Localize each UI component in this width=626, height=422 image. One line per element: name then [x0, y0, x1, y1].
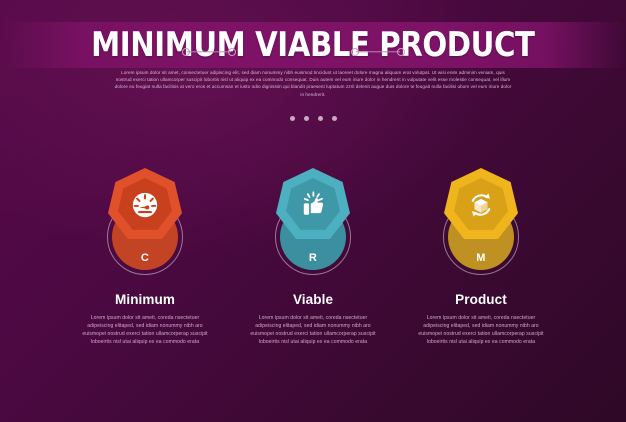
column-minimum[interactable]: C	[61, 168, 229, 346]
connector-ring-icon	[228, 48, 236, 56]
page-title: MINIMUM VIABLE PRODUCT	[91, 28, 534, 62]
divider-dots	[0, 116, 626, 121]
connector-ring-icon	[397, 48, 405, 56]
body-product: Lorem ipsum dolor sit ameti, coreda nsec…	[415, 314, 547, 346]
speedometer-icon	[130, 190, 160, 220]
heptagon-inner	[286, 178, 340, 232]
letter-label-m: M	[461, 252, 501, 264]
column-viable[interactable]: R	[229, 168, 397, 346]
letter-label-c: C	[125, 252, 165, 264]
badge-product[interactable]: M	[429, 168, 533, 276]
heptagon-inner	[118, 178, 172, 232]
divider-dot	[318, 116, 323, 121]
columns-row: C	[0, 168, 626, 346]
badge-minimum[interactable]: C	[93, 168, 197, 276]
thumbs-up-icon	[298, 190, 328, 220]
box-refresh-icon	[466, 190, 496, 220]
connector-1	[182, 46, 236, 58]
body-minimum: Lorem ipsum dolor sit ameti, coreda nsec…	[79, 314, 211, 346]
connector-2	[351, 46, 405, 58]
infographic-canvas: MINIMUM VIABLE PRODUCT Lorem ipsum dolor…	[0, 0, 626, 422]
divider-dot	[304, 116, 309, 121]
letter-label-r: R	[293, 252, 333, 264]
connector-line	[356, 51, 400, 52]
heading-product: Product	[455, 292, 507, 307]
title-band: MINIMUM VIABLE PRODUCT	[0, 22, 626, 68]
badge-viable[interactable]: R	[261, 168, 365, 276]
intro-paragraph: Lorem ipsum dolor sit amet, consectetuer…	[113, 69, 513, 98]
divider-dot	[290, 116, 295, 121]
connector-line	[187, 51, 231, 52]
body-viable: Lorem ipsum dolor sit ameti, coreda nsec…	[247, 314, 379, 346]
heading-minimum: Minimum	[115, 292, 175, 307]
heptagon-inner	[454, 178, 508, 232]
column-product[interactable]: M	[397, 168, 565, 346]
divider-dot	[332, 116, 337, 121]
heading-viable: Viable	[293, 292, 333, 307]
